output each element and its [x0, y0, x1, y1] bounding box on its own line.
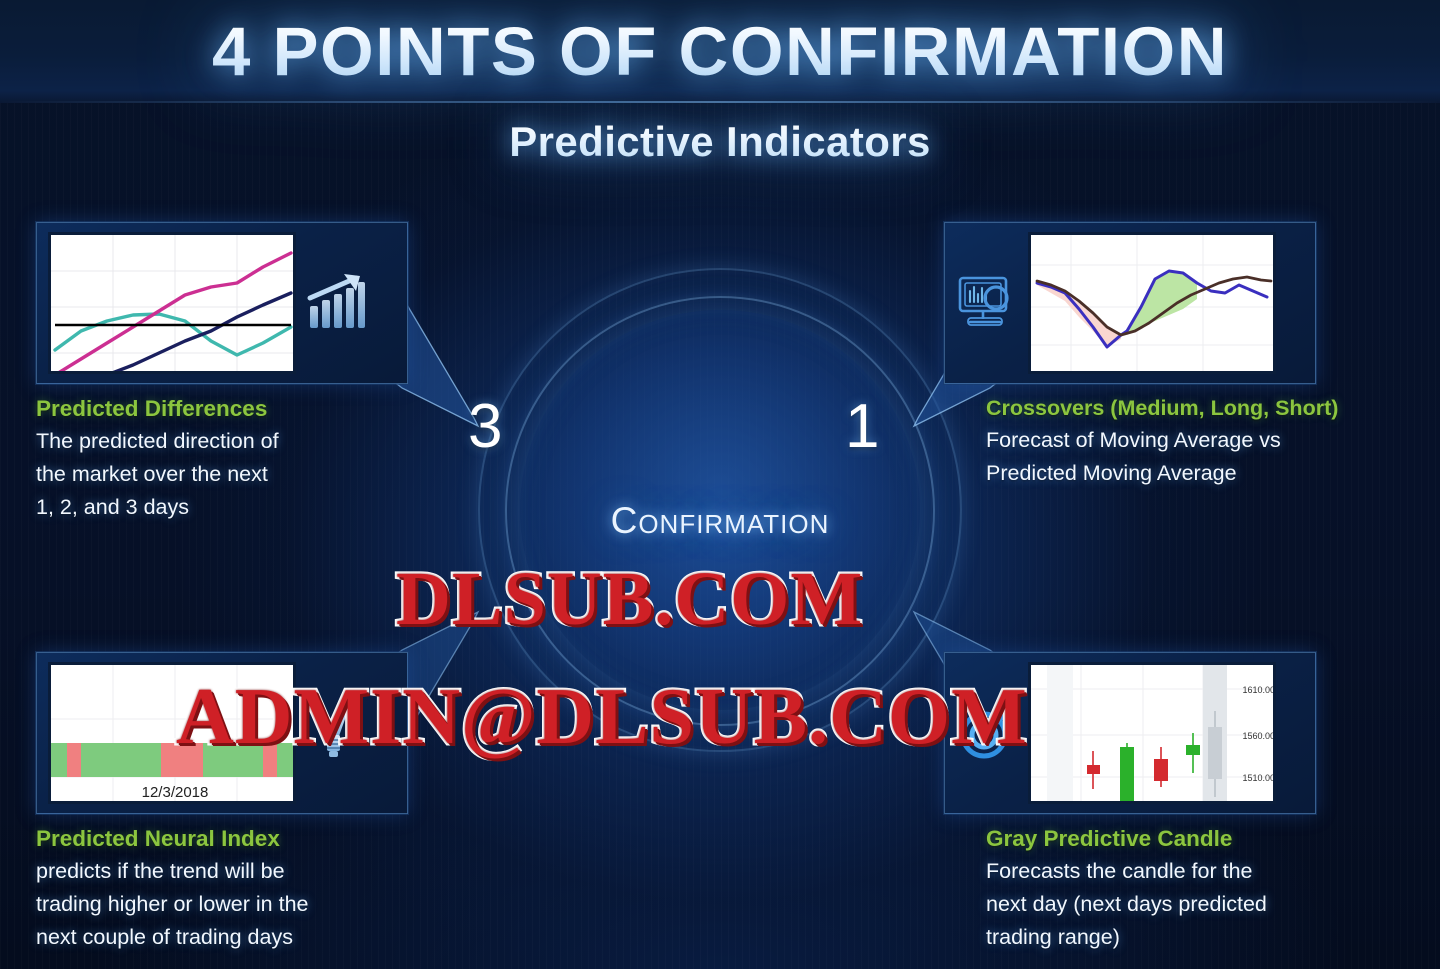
card-heading: Gray Predictive Candle — [986, 826, 1316, 852]
card-frame — [36, 222, 408, 384]
card-predicted-differences[interactable]: Predicted Differences The predicted dire… — [36, 222, 408, 524]
axis-tick-label: 1510.00 — [1242, 773, 1275, 783]
center-confirmation-label: Confirmation — [480, 500, 960, 542]
thumbnail-predicted-differences-chart — [48, 232, 296, 374]
card-body-line: trading higher or lower in the — [36, 888, 408, 921]
thumbnail-crossovers-chart — [1028, 232, 1276, 374]
monitor-chart-icon — [956, 274, 1018, 332]
card-heading: Crossovers (Medium, Long, Short) — [986, 396, 1316, 421]
card-body: The predicted direction of the market ov… — [36, 425, 408, 524]
page-title: 4 POINTS OF CONFIRMATION — [0, 6, 1440, 98]
card-body-line: next couple of trading days — [36, 921, 408, 954]
card-body: Forecasts the candle for the next day (n… — [986, 855, 1316, 954]
watermark-site: DLSUB.COM — [396, 556, 863, 643]
bar-chart-growth-icon — [304, 272, 368, 334]
slide-canvas: 4 POINTS OF CONFIRMATION Predictive Indi… — [0, 0, 1440, 969]
card-body-line: Predicted Moving Average — [986, 457, 1316, 490]
card-body-line: trading range) — [986, 921, 1316, 954]
card-body-line: 1, 2, and 3 days — [36, 491, 408, 524]
watermark-email: ADMIN@DLSUB.COM — [176, 672, 1028, 763]
card-body-line: predicts if the trend will be — [36, 855, 408, 888]
axis-tick-label: 1560.00 — [1242, 731, 1275, 741]
thumbnail-candlestick-chart: 1610.00 1560.00 1510.00 — [1028, 662, 1276, 804]
card-frame — [944, 222, 1316, 384]
card-body-line: next day (next days predicted — [986, 888, 1316, 921]
step-number-3: 3 — [468, 396, 502, 458]
card-heading: Predicted Neural Index — [36, 826, 408, 852]
axis-tick-label: 1610.00 — [1242, 685, 1275, 695]
card-crossovers[interactable]: Crossovers (Medium, Long, Short) Forecas… — [944, 222, 1316, 490]
page-subtitle: Predictive Indicators — [0, 118, 1440, 166]
card-body-line: The predicted direction of — [36, 425, 408, 458]
card-body-line: the market over the next — [36, 458, 408, 491]
card-body-line: Forecast of Moving Average vs — [986, 424, 1316, 457]
card-body: predicts if the trend will be trading hi… — [36, 855, 408, 954]
card-body: Forecast of Moving Average vs Predicted … — [986, 424, 1316, 490]
thumbnail-date-label: 12/3/2018 — [142, 784, 209, 801]
step-number-1: 1 — [845, 396, 879, 458]
card-heading: Predicted Differences — [36, 396, 408, 422]
card-body-line: Forecasts the candle for the — [986, 855, 1316, 888]
